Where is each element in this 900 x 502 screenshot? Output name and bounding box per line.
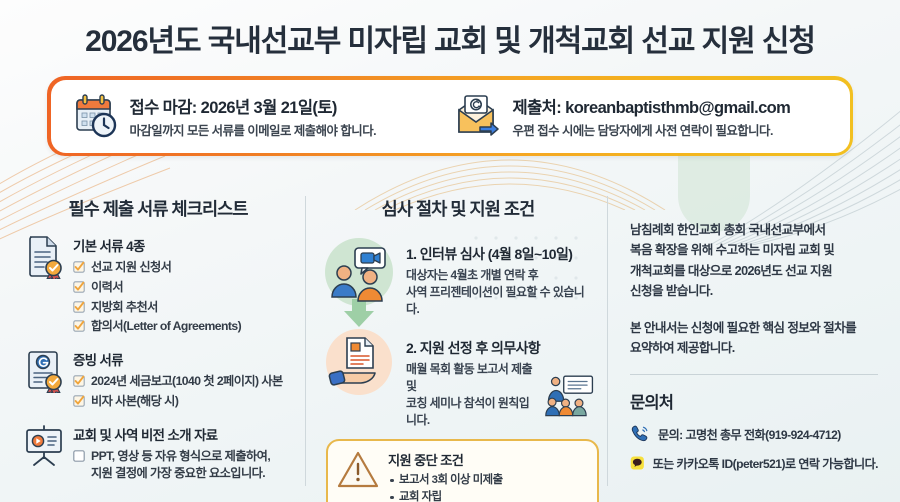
checklist-item-label: 합의서(Letter of Agreements): [91, 318, 241, 335]
warning-item: 교회 자립: [388, 489, 587, 502]
checklist-item[interactable]: 선교 지원 신청서: [73, 259, 292, 276]
checklist-item-label: PPT, 영상 등 자유 형식으로 제출하여, 지원 결정에 가장 중요한 요소…: [91, 448, 270, 483]
checklist-title: 필수 제출 서류 체크리스트: [24, 196, 292, 221]
checkbox-checked-icon[interactable]: [73, 375, 85, 387]
checklist-item-label: 비자 사본(해당 시): [91, 393, 178, 410]
warning-heading: 지원 중단 조건: [388, 450, 587, 469]
checkbox-checked-icon[interactable]: [73, 301, 85, 313]
phone-icon: [630, 424, 650, 444]
warning-triangle-icon: [336, 449, 380, 491]
checklist-item[interactable]: PPT, 영상 등 자유 형식으로 제출하여, 지원 결정에 가장 중요한 요소…: [73, 448, 292, 483]
summary-paragraph: 본 안내서는 신청에 필요한 핵심 정보와 절차를 요약하여 제공합니다.: [630, 318, 878, 359]
group-heading: 증빙 서류: [73, 349, 292, 369]
checklist-item-label: 선교 지원 신청서: [91, 259, 171, 276]
document-seal-icon: [24, 235, 64, 279]
checklist-item[interactable]: 이력서: [73, 279, 292, 296]
step-heading: 2. 지원 선정 후 의무사항: [406, 338, 594, 358]
poster-root: 2026년도 국내선교부 미자립 교회 및 개척교회 선교 지원 신청: [0, 0, 900, 502]
group-heading: 교회 및 사역 비전 소개 자료: [73, 424, 292, 444]
checkbox-checked-icon[interactable]: [73, 261, 85, 273]
section-divider: [630, 374, 878, 375]
video-interview-icon: [322, 235, 396, 327]
email-send-icon: [454, 94, 502, 138]
warning-box: 지원 중단 조건 보고서 3회 이상 미제출 교회 자립 사역지 이동시 지원이…: [326, 439, 599, 502]
contact-phone-text: 문의: 고명천 총무 전화(919-924-4712): [658, 426, 841, 443]
warning-item: 보고서 3회 이상 미제출: [388, 472, 587, 489]
deadline-block: 접수 마감: 2026년 3월 21일(토) 마감일까지 모든 서류를 이메일로…: [51, 80, 436, 153]
deadline-heading: 접수 마감: 2026년 3월 21일(토): [130, 94, 377, 118]
submission-heading: 제출처: koreanbaptisthmb@gmail.com: [513, 94, 791, 118]
info-column: 남침례회 한인교회 총회 국내선교부에서 복음 확장을 위해 수고하는 미자립 …: [608, 186, 900, 502]
step-heading: 1. 인터뷰 심사 (4월 8일~10일): [406, 244, 594, 264]
calendar-clock-icon: [73, 93, 119, 139]
hand-document-icon: [322, 329, 396, 395]
group-heading: 기본 서류 4종: [73, 235, 292, 255]
checkbox-checked-icon[interactable]: [73, 395, 85, 407]
checklist-item[interactable]: 합의서(Letter of Agreements): [73, 318, 292, 335]
checkbox-checked-icon[interactable]: [73, 320, 85, 332]
seminar-icon: [544, 372, 594, 418]
key-info-banner: 접수 마감: 2026년 3월 21일(토) 마감일까지 모든 서류를 이메일로…: [47, 76, 853, 156]
intro-paragraph: 남침례회 한인교회 총회 국내선교부에서 복음 확장을 위해 수고하는 미자립 …: [630, 220, 878, 302]
checklist-item[interactable]: 2024년 세금보고(1040 첫 2페이지) 사본: [73, 373, 292, 390]
submission-subtext: 우편 접수 시에는 담당자에게 사전 연락이 필요합니다.: [513, 121, 791, 139]
submission-block: 제출처: koreanbaptisthmb@gmail.com 우편 접수 시에…: [436, 80, 850, 153]
content-columns: 필수 제출 서류 체크리스트 기본 서류 4종: [0, 186, 900, 502]
checklist-group: 교회 및 사역 비전 소개 자료 PPT, 영상 등 자유 형식으로 제출하여,…: [24, 424, 292, 485]
contact-kakao-text: 또는 카카오톡 ID(peter521)로 연락 가능합니다.: [653, 455, 878, 472]
page-title: 2026년도 국내선교부 미자립 교회 및 개척교회 선교 지원 신청: [0, 16, 900, 60]
process-title: 심사 절차 및 지원 조건: [322, 196, 594, 221]
checkbox-checked-icon[interactable]: [73, 281, 85, 293]
checkbox-unchecked-icon[interactable]: [73, 450, 85, 462]
certificate-seal-icon: [24, 349, 64, 393]
process-step: 2. 지원 선정 후 의무사항 매월 목회 활동 보고서 제출 및 코칭 세미나…: [322, 329, 594, 429]
presentation-icon: [24, 424, 64, 466]
checklist-item-label: 이력서: [91, 279, 123, 296]
checklist-column: 필수 제출 서류 체크리스트 기본 서류 4종: [0, 186, 306, 502]
contact-phone-row[interactable]: 문의: 고명천 총무 전화(919-924-4712): [630, 424, 878, 444]
contact-title: 문의처: [630, 389, 878, 413]
checklist-item-label: 지방회 추천서: [91, 299, 158, 316]
contact-kakao-row[interactable]: 또는 카카오톡 ID(peter521)로 연락 가능합니다.: [630, 453, 878, 473]
checklist-group: 증빙 서류 2024년 세금보고(1040 첫 2페이지) 사본: [24, 349, 292, 413]
checklist-group: 기본 서류 4종 선교 지원 신청서 이력서: [24, 235, 292, 338]
checklist-item[interactable]: 지방회 추천서: [73, 299, 292, 316]
page-title-container: 2026년도 국내선교부 미자립 교회 및 개척교회 선교 지원 신청: [0, 16, 900, 60]
checklist-item-label: 2024년 세금보고(1040 첫 2페이지) 사본: [91, 373, 283, 390]
step-description: 대상자는 4월초 개별 연락 후 사역 프리젠테이션이 필요할 수 있습니다.: [406, 267, 594, 318]
step-description: 매월 목회 활동 보고서 제출 및 코칭 세미나 참석이 원칙입니다.: [406, 361, 538, 429]
checklist-item[interactable]: 비자 사본(해당 시): [73, 393, 292, 410]
process-column: 심사 절차 및 지원 조건 1. 인터뷰 심사 (4월 8일~10일): [306, 186, 608, 502]
process-step: 1. 인터뷰 심사 (4월 8일~10일) 대상자는 4월초 개별 연락 후 사…: [322, 235, 594, 327]
kakaotalk-icon: [630, 453, 645, 473]
deadline-subtext: 마감일까지 모든 서류를 이메일로 제출해야 합니다.: [130, 121, 377, 139]
